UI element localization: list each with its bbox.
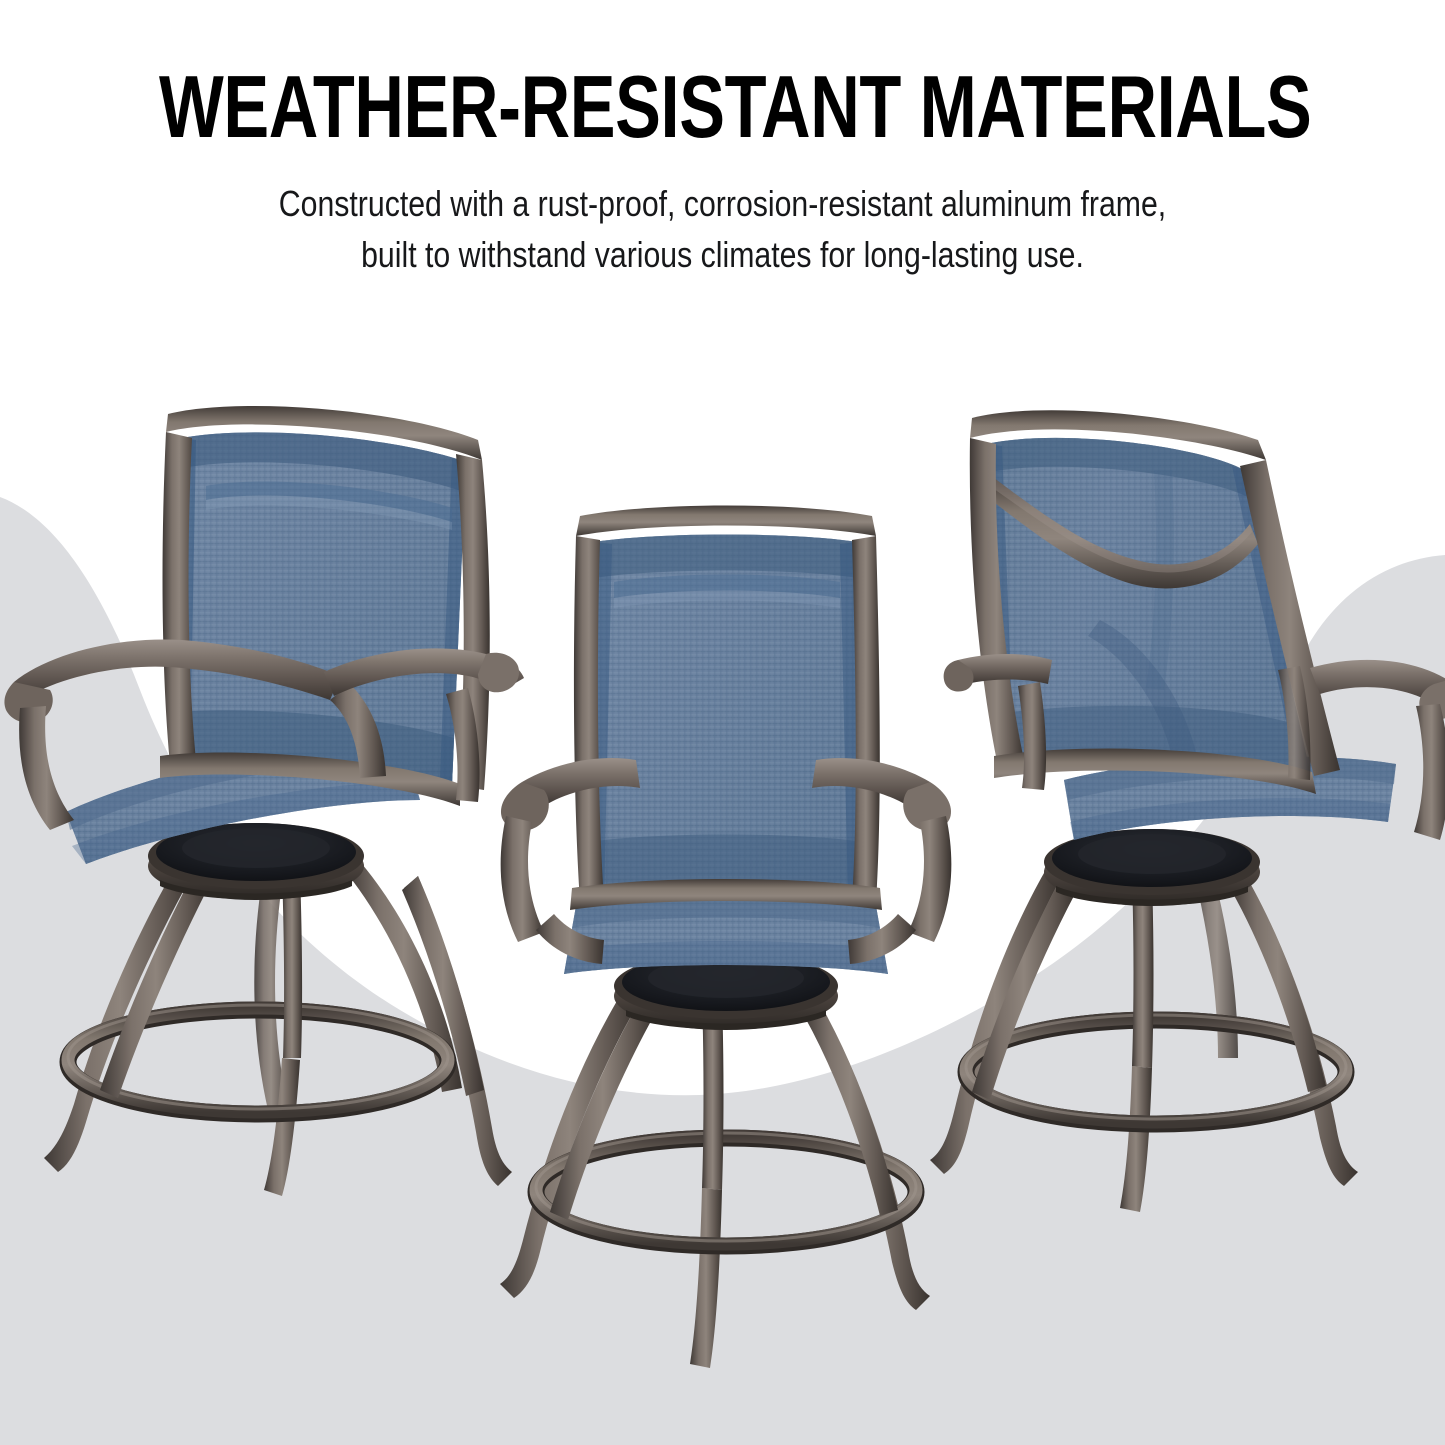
subtitle-line-2: built to withstand various climates for … [116,229,1330,280]
seat-sling-center [564,894,888,974]
subtitle-line-1: Constructed with a rust-proof, corrosion… [116,178,1330,229]
swivel-hub-right [1044,829,1260,906]
page-title: WEATHER-RESISTANT MATERIALS [159,62,1286,152]
page-subtitle: Constructed with a rust-proof, corrosion… [116,178,1330,280]
backrest-sling-left [176,432,466,786]
marketing-text-block: WEATHER-RESISTANT MATERIALS Constructed … [0,0,1445,280]
backrest-sling-center [586,535,866,903]
